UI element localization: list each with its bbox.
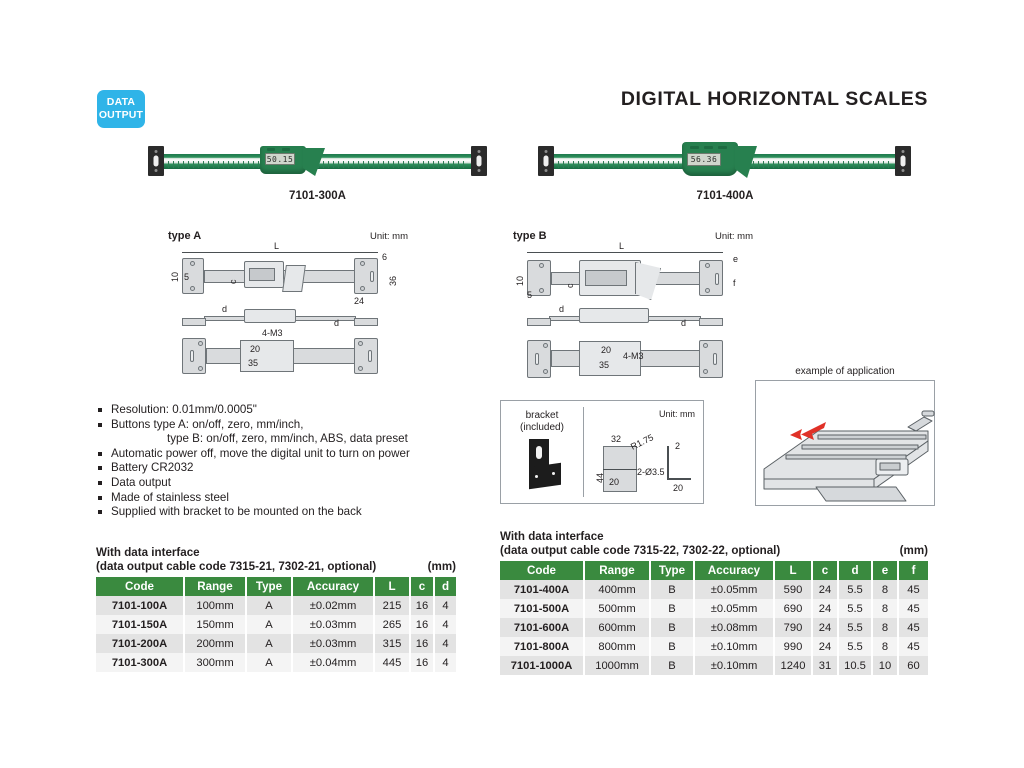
cell-d: 5.5: [838, 580, 872, 599]
mount-slot: [713, 353, 717, 365]
cell-type: B: [650, 599, 694, 618]
bracket-title-line-1: bracket: [501, 410, 583, 422]
cell-type: A: [246, 634, 292, 653]
col-range: Range: [584, 561, 650, 580]
bolt: [705, 263, 710, 268]
digital-readout-head: 56.36: [682, 142, 738, 176]
cell-l: 315: [374, 634, 410, 653]
cell-range: 100mm: [184, 596, 246, 615]
cell-d: 4: [434, 634, 456, 653]
side-view-plate-right: [354, 318, 378, 326]
mount-plate-right: [699, 260, 723, 296]
bracket-hole-bottom: [545, 169, 548, 172]
table-row: 7101-100A 100mm A ±0.02mm 215 16 4: [96, 596, 456, 615]
feature-item: Made of stainless steel: [97, 491, 410, 506]
bracket-title-line-2: (included): [501, 422, 583, 434]
feature-item: Supplied with bracket to be mounted on t…: [97, 505, 410, 520]
table-row: 7101-800A 800mm B ±0.10mm 990 24 5.5 8 4…: [500, 637, 928, 656]
table-b-heading-1: With data interface: [500, 530, 928, 544]
bracket-title: bracket (included): [501, 410, 583, 434]
cell-l: 1240: [774, 656, 812, 675]
bracket-slot: [901, 156, 906, 167]
lcd-display: 56.36: [687, 153, 721, 166]
dim-10: 10: [515, 276, 525, 286]
cell-range: 600mm: [584, 618, 650, 637]
dim-d-left: d: [559, 304, 564, 314]
dim-35: 35: [599, 360, 609, 370]
table-row: 7101-500A 500mm B ±0.05mm 690 24 5.5 8 4…: [500, 599, 928, 618]
cell-d: 4: [434, 596, 456, 615]
product-photo-7101-400a: 56.36 7101-400A: [530, 140, 920, 200]
cell-c: 24: [812, 637, 838, 656]
end-bracket-left: [538, 146, 554, 176]
readout-screen: [249, 268, 275, 281]
unit-label: Unit: mm: [659, 409, 695, 419]
end-bracket-left: [148, 146, 164, 176]
dim-10: 10: [170, 272, 180, 282]
dim-6: 6: [382, 252, 387, 262]
readout-screen: [585, 270, 627, 286]
cell-l: 590: [774, 580, 812, 599]
badge-line-1: DATA: [107, 96, 135, 109]
cell-accuracy: ±0.10mm: [694, 656, 774, 675]
cell-code: 7101-150A: [96, 615, 184, 634]
dim-5: 5: [184, 272, 189, 282]
feature-item: Automatic power off, move the digital un…: [97, 447, 410, 462]
drawing-label-type-b: type B: [513, 230, 547, 242]
cell-range: 200mm: [184, 634, 246, 653]
cell-type: B: [650, 618, 694, 637]
dim-d-left: d: [222, 304, 227, 314]
table-row: 7101-400A 400mm B ±0.05mm 590 24 5.5 8 4…: [500, 580, 928, 599]
lcd-display: 50.15: [265, 153, 295, 165]
cell-e: 8: [872, 618, 898, 637]
table-b-heading-row: (mm) (data output cable code 7315-22, 73…: [500, 544, 928, 558]
catalog-page: DATA OUTPUT DIGITAL HORIZONTAL SCALES 50…: [0, 0, 1024, 768]
cell-d: 4: [434, 615, 456, 634]
bracket-hole-top: [902, 150, 905, 153]
col-type: Type: [246, 577, 292, 596]
cell-c: 16: [410, 634, 434, 653]
table-b-heading-2: (data output cable code 7315-22, 7302-22…: [500, 544, 780, 557]
cell-c: 16: [410, 615, 434, 634]
cell-accuracy: ±0.02mm: [292, 596, 374, 615]
machine-table-illustration: [756, 381, 936, 507]
feature-item: Buttons type A: on/off, zero, mm/inch,: [97, 418, 410, 433]
cell-c: 16: [410, 596, 434, 615]
photo-caption: 7101-300A: [140, 190, 495, 202]
side-view-housing: [579, 308, 649, 323]
cell-f: 45: [898, 580, 928, 599]
bracket-fold-line: [603, 469, 637, 470]
bolt: [543, 343, 548, 348]
page-title: DIGITAL HORIZONTAL SCALES: [621, 88, 928, 111]
dim-f: f: [733, 278, 736, 288]
cell-e: 10: [872, 656, 898, 675]
table-row: 7101-600A 600mm B ±0.08mm 790 24 5.5 8 4…: [500, 618, 928, 637]
col-code: Code: [500, 561, 584, 580]
cell-accuracy: ±0.05mm: [694, 599, 774, 618]
cell-d: 4: [434, 653, 456, 672]
spec-table-a-wrap: With data interface (mm) (data output ca…: [96, 546, 456, 672]
cell-range: 800mm: [584, 637, 650, 656]
dim-4-m3: 4-M3: [262, 328, 283, 338]
side-view-plate-left: [182, 318, 206, 326]
bracket-hole-bottom: [902, 169, 905, 172]
dim-e: e: [733, 254, 738, 264]
bracket-slot: [154, 156, 159, 167]
col-e: e: [872, 561, 898, 580]
bolt: [198, 341, 203, 346]
cell-code: 7101-800A: [500, 637, 584, 656]
head-button-left: [267, 148, 275, 151]
table-a-heading-row: (mm) (data output cable code 7315-21, 73…: [96, 560, 456, 574]
cell-f: 45: [898, 637, 928, 656]
mount-plate-right: [354, 258, 378, 294]
photo-caption: 7101-400A: [530, 190, 920, 202]
dim-4-m3: 4-M3: [623, 351, 644, 361]
application-title: example of application: [755, 366, 935, 377]
bracket-hole-bottom: [155, 169, 158, 172]
table-b-unit: (mm): [900, 544, 928, 558]
cell-range: 300mm: [184, 653, 246, 672]
cell-code: 7101-600A: [500, 618, 584, 637]
feature-item: Battery CR2032: [97, 461, 410, 476]
dim-20-side: 20: [673, 483, 683, 493]
bolt: [703, 343, 708, 348]
bolt: [705, 288, 710, 293]
cell-code: 7101-1000A: [500, 656, 584, 675]
application-frame: [755, 380, 935, 506]
cell-type: B: [650, 637, 694, 656]
col-accuracy: Accuracy: [292, 577, 374, 596]
col-c: c: [410, 577, 434, 596]
cell-l: 690: [774, 599, 812, 618]
dim-2: 2: [675, 441, 680, 451]
dim-r175: R1.75: [629, 432, 655, 452]
spec-table-b-wrap: With data interface (mm) (data output ca…: [500, 530, 928, 675]
table-b-header-row: Code Range Type Accuracy L c d e f: [500, 561, 928, 580]
dim-20: 20: [250, 344, 260, 354]
cell-accuracy: ±0.03mm: [292, 634, 374, 653]
col-l: L: [374, 577, 410, 596]
unit-label: Unit: mm: [370, 231, 408, 242]
bolt: [190, 261, 195, 266]
cell-l: 990: [774, 637, 812, 656]
end-bracket-right: [471, 146, 487, 176]
bolt: [543, 369, 548, 374]
dim-32: 32: [611, 434, 621, 444]
dim-35: 35: [248, 358, 258, 368]
cell-type: A: [246, 653, 292, 672]
cell-type: B: [650, 656, 694, 675]
bracket-illustration: [523, 439, 567, 491]
col-d: d: [838, 561, 872, 580]
cell-e: 8: [872, 637, 898, 656]
dim-5: 5: [527, 290, 532, 300]
head-button-mid: [704, 146, 713, 149]
unit-label: Unit: mm: [715, 231, 753, 242]
cell-code: 7101-200A: [96, 634, 184, 653]
dim-2-dia-3-5: 2-Ø3.5: [637, 467, 665, 477]
col-accuracy: Accuracy: [694, 561, 774, 580]
dim-line-L: [527, 252, 723, 253]
feature-item: Data output: [97, 476, 410, 491]
mount-slot: [190, 350, 194, 362]
cell-type: B: [650, 580, 694, 599]
bracket-side-horizontal: [667, 478, 691, 480]
feature-item: Resolution: 0.01mm/0.0005": [97, 403, 410, 418]
drawing-label-type-a: type A: [168, 230, 201, 242]
col-type: Type: [650, 561, 694, 580]
bolt: [190, 286, 195, 291]
cell-type: A: [246, 615, 292, 634]
application-example: example of application: [755, 366, 935, 506]
spec-table-a: Code Range Type Accuracy L c d 7101-100A…: [96, 577, 456, 672]
table-a-heading-2: (data output cable code 7315-21, 7302-21…: [96, 560, 376, 573]
drawing-type-b: type B Unit: mm L e f 10 5 c d d: [513, 230, 753, 395]
cell-d: 5.5: [838, 618, 872, 637]
col-range: Range: [184, 577, 246, 596]
cell-range: 150mm: [184, 615, 246, 634]
product-photo-7101-300a: 50.15 7101-300A: [140, 140, 495, 200]
dim-20: 20: [601, 345, 611, 355]
spec-table-b: Code Range Type Accuracy L c d e f 7101-…: [500, 561, 928, 675]
table-row: 7101-150A 150mm A ±0.03mm 265 16 4: [96, 615, 456, 634]
cell-code: 7101-100A: [96, 596, 184, 615]
bracket-side-vertical: [667, 446, 669, 480]
bolt: [198, 366, 203, 371]
bracket-hole-top: [545, 150, 548, 153]
table-a-unit: (mm): [428, 560, 456, 574]
cell-code: 7101-400A: [500, 580, 584, 599]
bolt: [539, 288, 544, 293]
bracket-detail-box: bracket (included) Unit: mm 32 R1.75 44 …: [500, 400, 704, 504]
table-row: 7101-200A 200mm A ±0.03mm 315 16 4: [96, 634, 456, 653]
cell-code: 7101-300A: [96, 653, 184, 672]
bolt: [360, 286, 365, 291]
dim-d-right: d: [334, 318, 339, 328]
cell-c: 24: [812, 599, 838, 618]
bolt: [360, 261, 365, 266]
cell-c: 24: [812, 580, 838, 599]
dim-44: 44: [595, 473, 605, 483]
thumb-wheel: [282, 265, 306, 292]
dim-L: L: [619, 241, 624, 251]
bolt: [539, 263, 544, 268]
mount-slot: [370, 271, 374, 282]
bracket-horizontal-leg: [529, 463, 561, 489]
dim-line-L: [182, 252, 378, 253]
col-l: L: [774, 561, 812, 580]
badge-line-2: OUTPUT: [99, 109, 143, 122]
bracket-hole-top: [155, 150, 158, 153]
bracket-hole-top: [478, 150, 481, 153]
side-view-plate-right: [699, 318, 723, 326]
dim-24: 24: [354, 296, 364, 306]
bolt: [358, 341, 363, 346]
col-d: d: [434, 577, 456, 596]
digital-readout-head: 50.15: [260, 146, 306, 174]
bracket-hole-left: [535, 475, 538, 478]
cell-f: 45: [898, 599, 928, 618]
cell-e: 8: [872, 599, 898, 618]
bracket-hole-bottom: [478, 169, 481, 172]
cell-accuracy: ±0.08mm: [694, 618, 774, 637]
dim-d-right: d: [681, 318, 686, 328]
cell-d: 5.5: [838, 599, 872, 618]
cell-d: 5.5: [838, 637, 872, 656]
head-button-right: [282, 148, 290, 151]
col-c: c: [812, 561, 838, 580]
bracket-slot: [544, 156, 549, 167]
box-divider: [583, 407, 584, 497]
head-button-left: [690, 146, 699, 149]
side-view-housing: [244, 309, 296, 323]
cell-accuracy: ±0.03mm: [292, 615, 374, 634]
cell-f: 45: [898, 618, 928, 637]
bracket-slot: [477, 156, 482, 167]
table-a-header-row: Code Range Type Accuracy L c d: [96, 577, 456, 596]
dim-L: L: [274, 241, 279, 251]
mount-slot: [535, 353, 539, 365]
col-code: Code: [96, 577, 184, 596]
cell-c: 24: [812, 618, 838, 637]
bracket-slot: [536, 446, 542, 459]
cell-range: 400mm: [584, 580, 650, 599]
cell-c: 16: [410, 653, 434, 672]
cell-range: 1000mm: [584, 656, 650, 675]
cell-code: 7101-500A: [500, 599, 584, 618]
feature-list: Resolution: 0.01mm/0.0005" Buttons type …: [97, 403, 410, 520]
cell-f: 60: [898, 656, 928, 675]
end-bracket-right: [895, 146, 911, 176]
dim-20-front: 20: [609, 477, 619, 487]
cell-l: 790: [774, 618, 812, 637]
bolt: [358, 366, 363, 371]
cell-l: 265: [374, 615, 410, 634]
cell-d: 10.5: [838, 656, 872, 675]
side-view-plate-left: [527, 318, 551, 326]
dim-36: 36: [388, 276, 398, 286]
table-a-heading-1: With data interface: [96, 546, 456, 560]
col-f: f: [898, 561, 928, 580]
feature-item-sub: type B: on/off, zero, mm/inch, ABS, data…: [97, 432, 410, 447]
bolt: [703, 369, 708, 374]
cell-e: 8: [872, 580, 898, 599]
mount-slot: [715, 273, 719, 285]
cell-l: 445: [374, 653, 410, 672]
head-button-right: [718, 146, 727, 149]
cell-accuracy: ±0.10mm: [694, 637, 774, 656]
drawing-type-a: type A Unit: mm L 6 36 24 10 5 c d d: [168, 230, 408, 390]
table-row: 7101-300A 300mm A ±0.04mm 445 16 4: [96, 653, 456, 672]
dim-c: c: [565, 284, 575, 289]
dim-c: c: [228, 280, 238, 285]
bracket-hole-right: [552, 472, 555, 475]
cell-accuracy: ±0.05mm: [694, 580, 774, 599]
cell-l: 215: [374, 596, 410, 615]
data-output-badge: DATA OUTPUT: [97, 90, 145, 128]
cell-type: A: [246, 596, 292, 615]
cell-range: 500mm: [584, 599, 650, 618]
mount-slot: [368, 350, 372, 362]
table-row: 7101-1000A 1000mm B ±0.10mm 1240 31 10.5…: [500, 656, 928, 675]
cell-c: 31: [812, 656, 838, 675]
cell-accuracy: ±0.04mm: [292, 653, 374, 672]
